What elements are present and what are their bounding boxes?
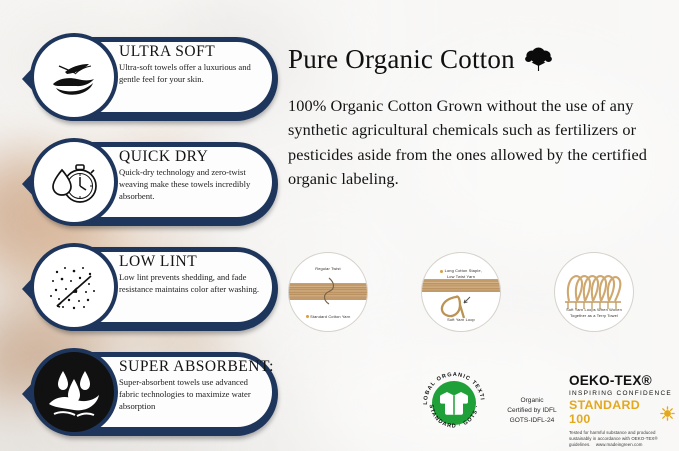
idfl-line-1: Organic [498, 396, 566, 406]
idfl-line-3: GOTS-IDFL-24 [498, 416, 566, 426]
oeko-tex-fineprint: Tested for harmful substance and produce… [569, 430, 675, 449]
stopwatch-droplet-icon [30, 138, 118, 226]
droplets-waves-icon [30, 348, 118, 436]
feature-title: SUPER ABSORBENT: [119, 359, 266, 375]
feature-description: Low lint prevents shedding, and fade res… [119, 272, 266, 296]
headline-text: Pure Organic Cotton [288, 44, 515, 75]
yarn-bottom-label: Standard Cotton Yarn [289, 314, 367, 319]
badge-text-group: LOW LINT Low lint prevents shedding, and… [119, 254, 266, 296]
cotton-boll-icon [525, 47, 552, 72]
yarn-diagram-terry-loops: Soft Yarn Loops When Woven Together as a… [554, 252, 634, 332]
oeko-tex-standard-row: STANDARD 100 [569, 399, 675, 426]
feature-badge-super-absorbent: SUPER ABSORBENT: Super-absorbent towels … [33, 352, 278, 436]
oeko-tex-badge: OEKO-TEX® INSPIRING CONFIDENCE STANDARD … [569, 374, 675, 448]
oeko-tex-brand: OEKO-TEX® [569, 374, 675, 388]
yarn-bottom-label: Soft Yarn Loops When Woven Together as a… [555, 307, 633, 318]
terry-towel-loops-icon [555, 253, 633, 331]
feature-description: Ultra-soft towels offer a luxurious and … [119, 62, 266, 86]
bullet-dot [306, 315, 309, 318]
idfl-line-2: Certified by IDFL [498, 406, 566, 416]
gots-logo-icon: GLOBAL ORGANIC TEXTILE STANDARD · GOTS · [418, 367, 490, 439]
hand-feather-icon [30, 33, 118, 121]
feature-description: Super-absorbent towels use advanced fabr… [119, 377, 266, 413]
yarn-bottom-label: Soft Yarn Loop [422, 317, 500, 322]
badge-text-group: SUPER ABSORBENT: Super-absorbent towels … [119, 359, 266, 413]
yarn-top-label: Long Cotton Staple, Low Twist Yarn [422, 263, 500, 279]
feature-title: ULTRA SOFT [119, 44, 266, 60]
page-title: Pure Organic Cotton [288, 44, 552, 75]
lint-particles-icon [30, 243, 118, 331]
feature-badge-low-lint: LOW LINT Low lint prevents shedding, and… [33, 247, 278, 331]
feature-title: QUICK DRY [119, 149, 266, 165]
feature-title: LOW LINT [119, 254, 266, 270]
yarn-diagram-low-twist: Long Cotton Staple, Low Twist Yarn Soft … [421, 252, 501, 332]
hero-body-text: 100% Organic Cotton Grown without the us… [288, 94, 674, 192]
feature-badge-ultra-soft: ULTRA SOFT Ultra-soft towels offer a lux… [33, 37, 278, 121]
badge-text-group: QUICK DRY Quick-dry technology and zero-… [119, 149, 266, 203]
feature-description: Quick-dry technology and zero-twist weav… [119, 167, 266, 203]
yarn-diagram-regular-twist: Regular Twist Standard Cotton Yarn [288, 252, 368, 332]
regular-twist-yarn-icon [289, 253, 367, 331]
sun-icon [660, 406, 675, 421]
bullet-dot [440, 270, 443, 273]
oeko-tex-website: www.madeingreen.com [596, 442, 643, 447]
feature-badge-quick-dry: QUICK DRY Quick-dry technology and zero-… [33, 142, 278, 226]
badge-text-group: ULTRA SOFT Ultra-soft towels offer a lux… [119, 44, 266, 86]
oeko-tex-tagline: INSPIRING CONFIDENCE [569, 390, 675, 397]
idfl-certification-text: Organic Certified by IDFL GOTS-IDFL-24 [498, 396, 566, 426]
oeko-tex-standard-label: STANDARD 100 [569, 399, 655, 426]
yarn-top-label: Regular Twist [289, 266, 367, 271]
